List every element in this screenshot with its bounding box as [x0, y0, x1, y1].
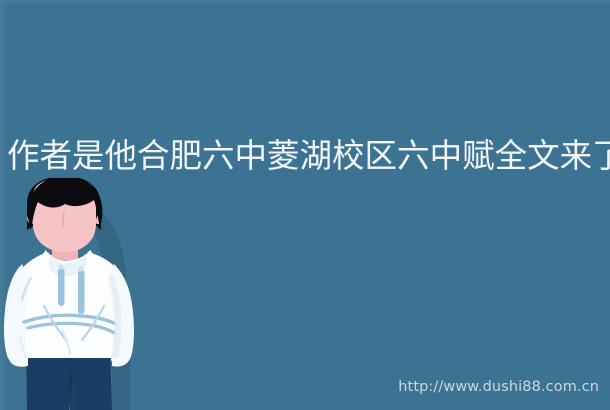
headline-text: 作者是他合肥六中菱湖校区六中赋全文来了: [7, 134, 598, 178]
watermark-url: http://www.dushi88.com.cn: [398, 379, 599, 396]
person-illustration: [0, 178, 150, 410]
hoodie-group: [4, 250, 134, 367]
article-thumbnail-banner: 作者是他合肥六中菱湖校区六中赋全文来了 http://www.dushi88.c…: [0, 0, 610, 410]
